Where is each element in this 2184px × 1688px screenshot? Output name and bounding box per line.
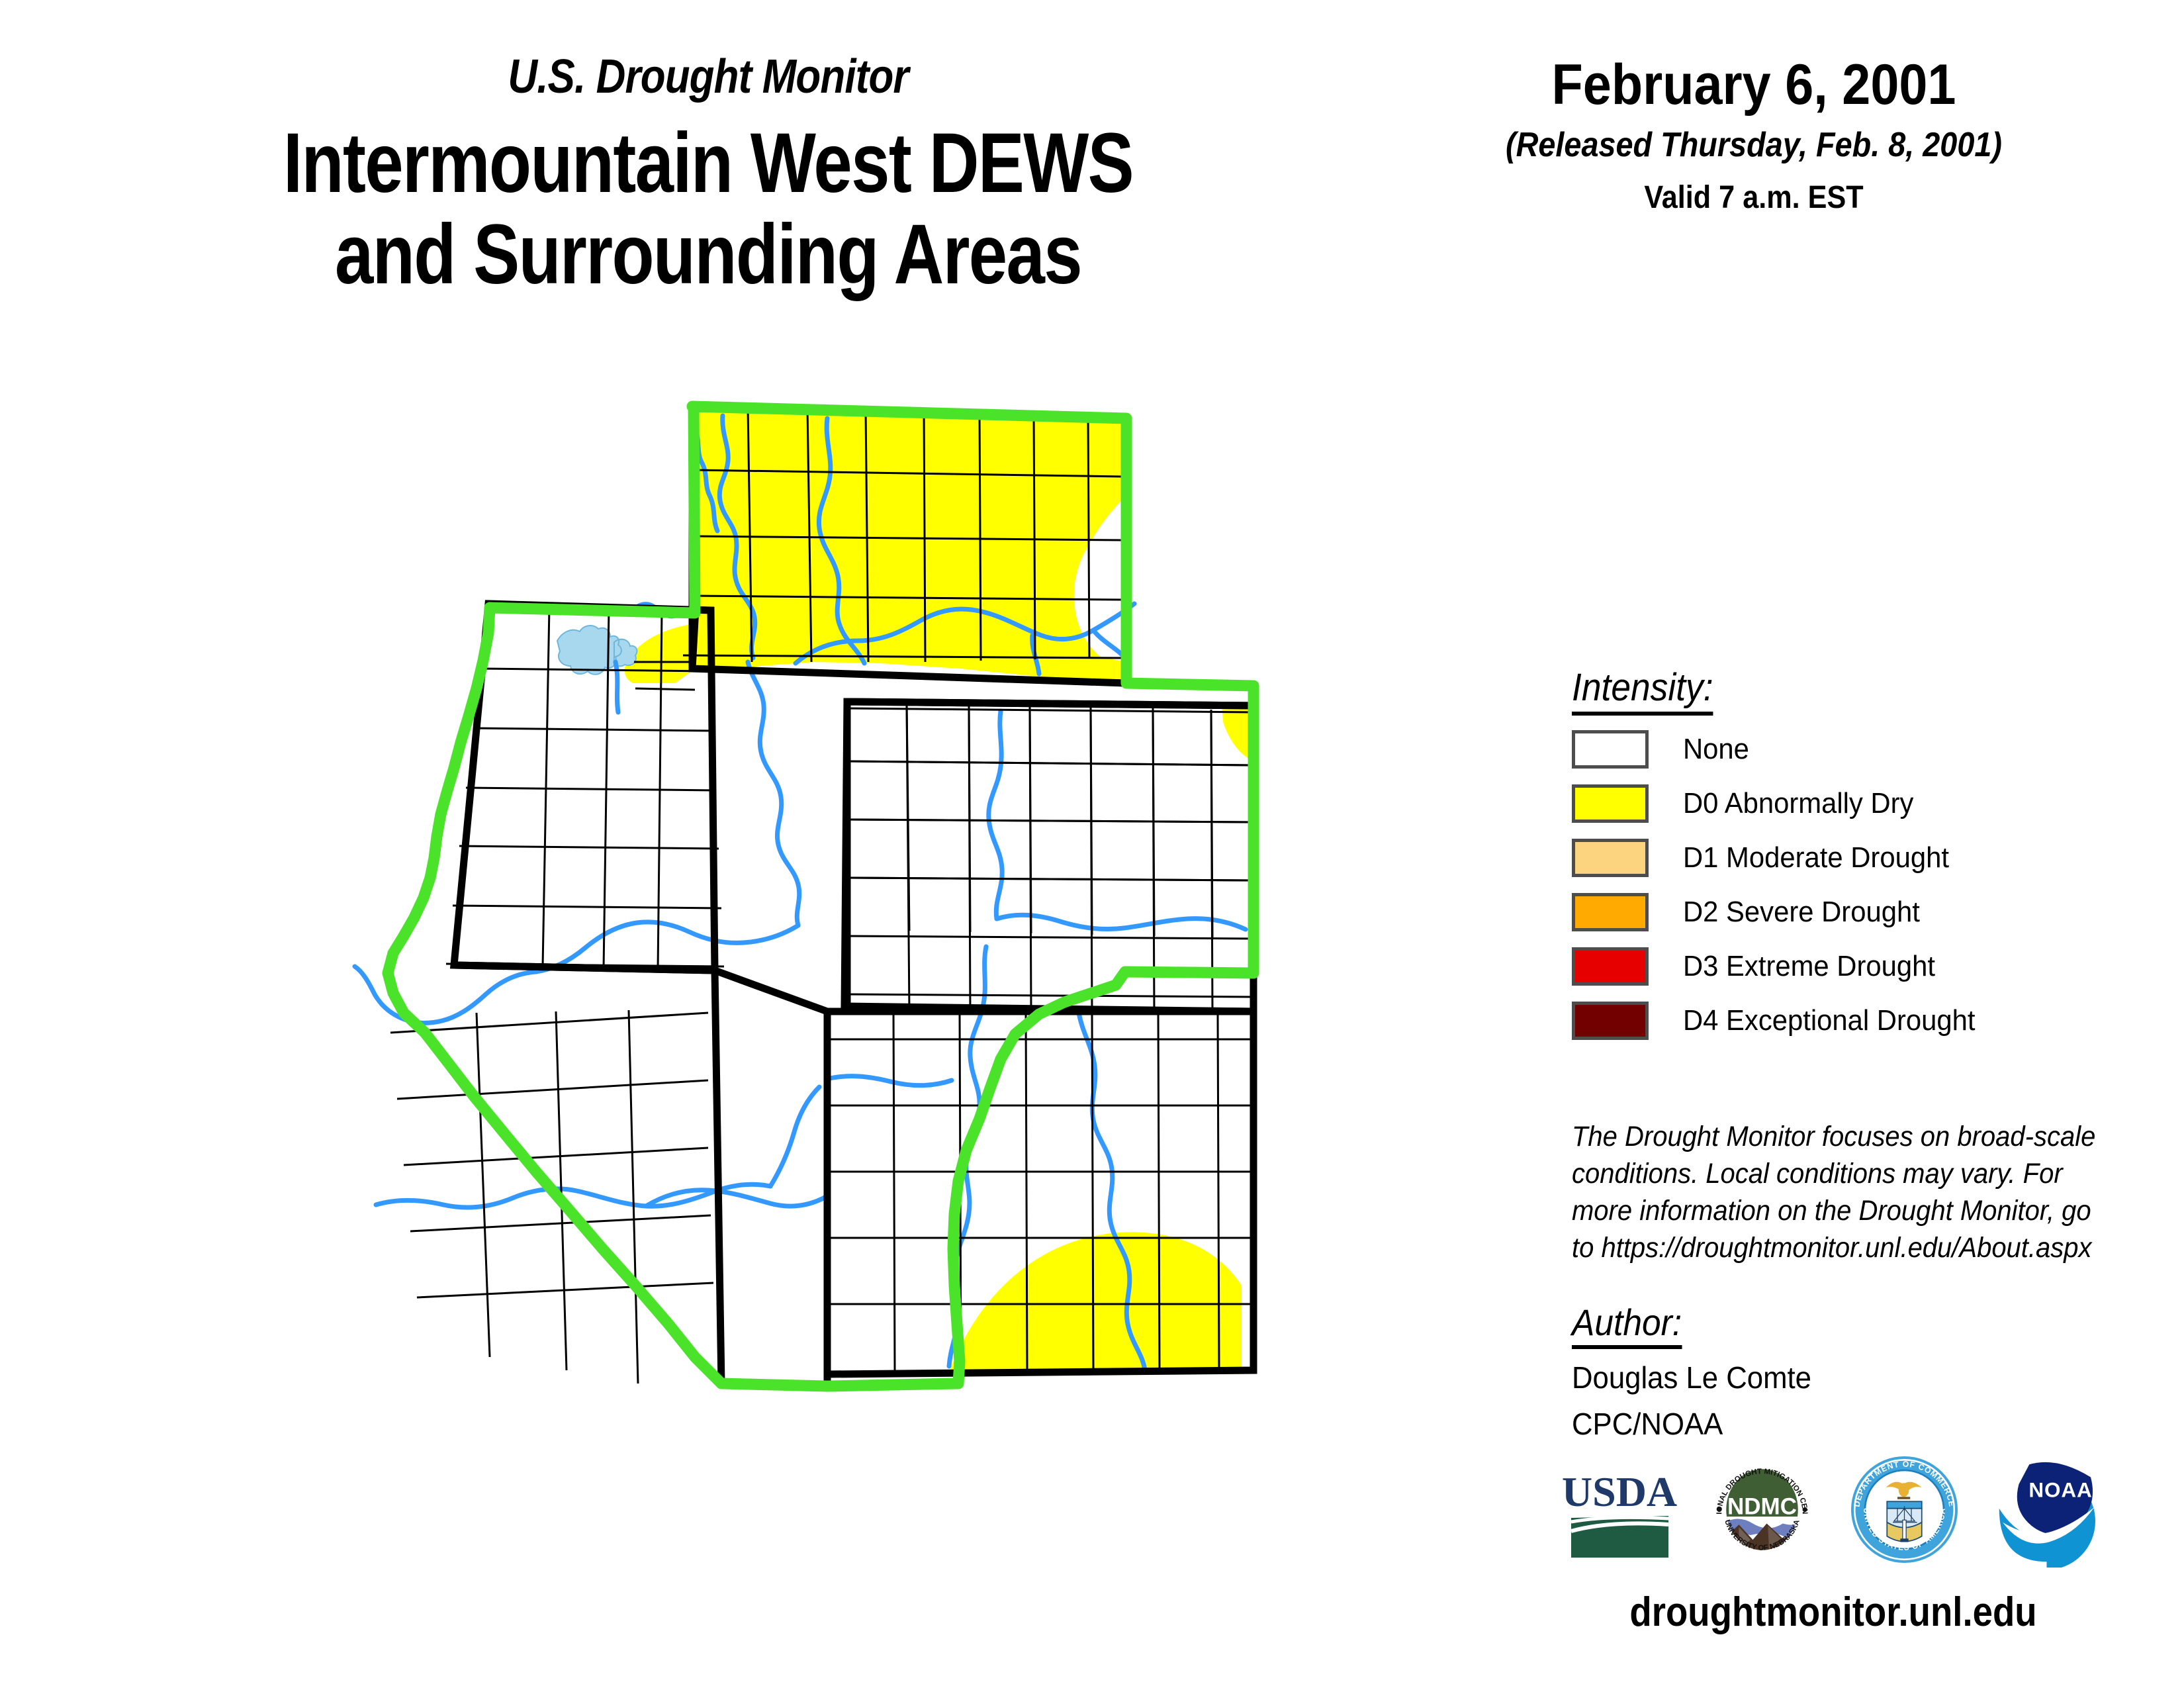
legend-label-d3: D3 Extreme Drought [1683,950,1935,983]
river-little-colorado [770,1087,819,1186]
commerce-seal: DEPARTMENT OF COMMERCE UNITED STATES OF … [1846,1452,1962,1568]
river-colorado-lower [398,972,536,1023]
legend-item-d3: D3 Extreme Drought [1572,946,2075,987]
logo-row: USDA NATIONAL DROUGHT MITIGATION CENTER … [1562,1446,2105,1572]
svg-text:USDA: USDA [1562,1468,1677,1515]
intensity-legend: Intensity: None D0 Abnormally Dry D1 Mod… [1572,665,2075,1041]
footer-url: droughtmonitor.unl.edu [1577,1589,2089,1636]
legend-label-d0: D0 Abnormally Dry [1683,787,1913,820]
disclaimer-text: The Drought Monitor focuses on broad-sca… [1572,1119,2113,1267]
river-rio-grande-north [989,711,1002,919]
river-gila [376,1184,770,1207]
author-affiliation: CPC/NOAA [1572,1406,2075,1442]
svg-text:NDMC: NDMC [1727,1493,1797,1519]
swatch-d0 [1572,784,1649,823]
author-block: Author: Douglas Le Comte CPC/NOAA [1572,1301,2101,1442]
valid-date: February 6, 2001 [1492,56,2016,113]
svg-text:★: ★ [1871,1504,1880,1515]
legend-item-d0: D0 Abnormally Dry [1572,783,2075,824]
legend-item-d4: D4 Exceptional Drought [1572,1000,2075,1041]
svg-text:★: ★ [1931,1504,1940,1515]
legend-label-d1: D1 Moderate Drought [1683,841,1949,874]
title-block: U.S. Drought Monitor Intermountain West … [126,53,1291,301]
map-svg [324,377,1277,1589]
legend-item-d1: D1 Moderate Drought [1572,837,2075,878]
river-green [748,662,799,925]
swatch-d3 [1572,947,1649,986]
river-san-juan [827,1076,952,1086]
swatch-d1 [1572,839,1649,877]
drought-monitor-kicker: U.S. Drought Monitor [207,53,1209,101]
state-border-arizona-nm [715,970,827,1386]
page-title-line-2: and Surrounding Areas [230,209,1185,301]
svg-text:NOAA: NOAA [2028,1477,2092,1501]
page-title-line-1: Intermountain West DEWS [230,118,1185,209]
author-name: Douglas Le Comte [1572,1360,2075,1395]
usda-logo: USDA [1562,1452,1678,1568]
legend-item-none: None [1572,729,2075,770]
river-yellowstone-lower [1093,630,1125,658]
author-heading: Author: [1572,1301,1682,1349]
release-date: (Released Thursday, Feb. 8, 2001) [1492,125,2016,165]
swatch-d4 [1572,1002,1649,1040]
valid-time: Valid 7 a.m. EST [1492,179,2016,216]
state-border-colorado [844,702,1253,1011]
noaa-logo: NOAA [1989,1452,2105,1568]
legend-label-d2: D2 Severe Drought [1683,896,1920,929]
legend-item-d2: D2 Severe Drought [1572,892,2075,933]
river-rio-grande-mid [970,947,986,1108]
swatch-none [1572,730,1649,769]
ndmc-logo: NATIONAL DROUGHT MITIGATION CENTER UNIVE… [1704,1452,1820,1568]
legend-title: Intensity: [1572,665,1713,716]
swatch-d2 [1572,893,1649,931]
legend-label-none: None [1683,733,1749,766]
d0-region-se-newmexico [950,1232,1242,1370]
date-block: February 6, 2001 (Released Thursday, Feb… [1463,56,2045,216]
legend-label-d4: D4 Exceptional Drought [1683,1004,1975,1037]
drought-map [324,377,1277,1589]
river-arkansas [997,915,1246,929]
